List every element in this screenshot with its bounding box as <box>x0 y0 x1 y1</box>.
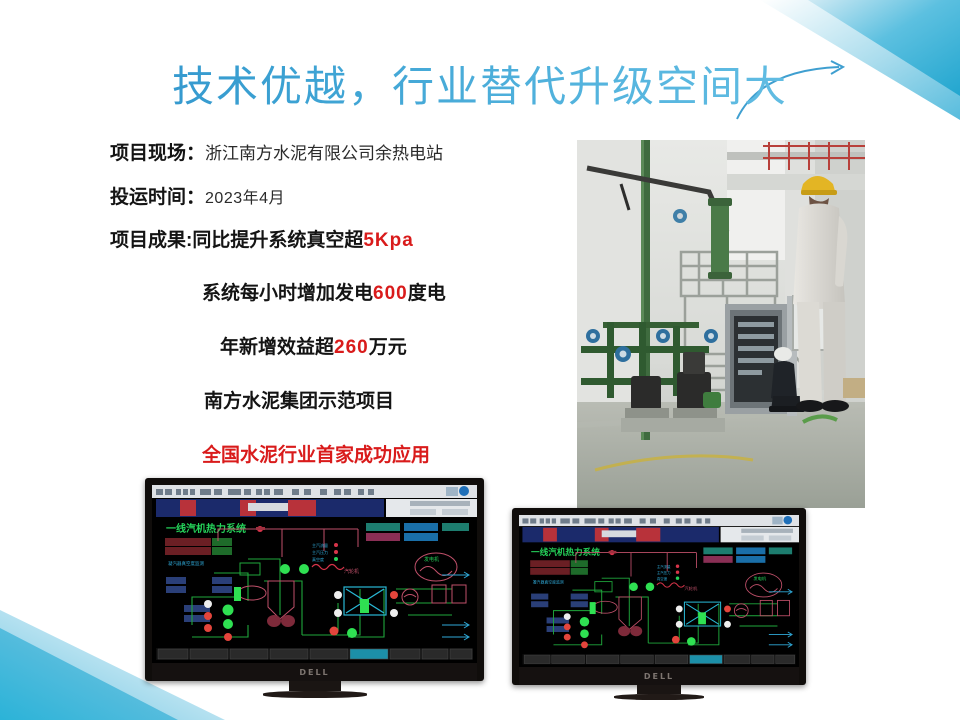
svg-text:主汽流量: 主汽流量 <box>657 564 671 569</box>
achievement-annual-benefit-text: 年新增效益超 <box>220 337 334 358</box>
monitor-left-chin: DELL <box>152 663 477 681</box>
svg-text:主汽流量: 主汽流量 <box>312 542 328 548</box>
achievement-power-output-text: 系统每小时增加发电 <box>202 283 373 304</box>
row-project-site-value: 浙江南方水泥有限公司余热电站 <box>205 144 443 163</box>
claim-first-in-industry: 全国水泥行业首家成功应用 <box>110 440 570 467</box>
svg-text:发电机: 发电机 <box>424 556 439 563</box>
monitor-right-screen: 一线汽机热力系统 凝汽器真空度监测 <box>519 515 799 667</box>
monitor-left-brand: DELL <box>299 668 329 677</box>
achievement-annual-benefit-unit: 万元 <box>369 337 407 358</box>
monitor-left: 一线汽机热力系统 <box>145 478 484 698</box>
svg-text:凝汽器真空度监测: 凝汽器真空度监测 <box>533 579 564 584</box>
monitor-left-screen: 一线汽机热力系统 <box>152 485 477 663</box>
monitor-right: 一线汽机热力系统 凝汽器真空度监测 <box>512 508 806 700</box>
svg-text:真空度: 真空度 <box>657 576 668 581</box>
monitor-left-stand-neck <box>289 681 341 691</box>
scada-diagram-left: 一线汽机热力系统 <box>152 485 477 663</box>
monitor-right-stand-base <box>614 694 704 700</box>
row-project-result-value: 同比提升系统真空超 <box>192 230 363 251</box>
monitor-left-stand-base <box>263 691 367 698</box>
achievement-power-output-value: 600 <box>373 283 408 304</box>
achievement-demo-project: 南方水泥集团示范项目 <box>110 386 570 413</box>
achievement-demo-project-text: 南方水泥集团示范项目 <box>204 391 394 412</box>
monitor-right-brand: DELL <box>644 672 674 681</box>
row-project-result-highlight: 5Kpa <box>363 230 413 251</box>
svg-text:汽轮机: 汽轮机 <box>344 568 359 575</box>
achievement-annual-benefit: 年新增效益超260万元 <box>110 332 570 359</box>
svg-text:真空度: 真空度 <box>312 556 324 562</box>
monitor-right-bezel: 一线汽机热力系统 凝汽器真空度监测 <box>512 508 806 685</box>
svg-text:凝汽器真空度监测: 凝汽器真空度监测 <box>168 560 204 567</box>
row-project-result-label: 项目成果: <box>110 230 192 251</box>
monitor-right-stand-neck <box>637 685 681 694</box>
row-commission-date: 投运时间：2023年4月 <box>110 182 570 209</box>
scada-screen-right: 一线汽机热力系统 凝汽器真空度监测 <box>519 515 799 667</box>
achievement-power-output: 系统每小时增加发电600度电 <box>110 278 570 305</box>
monitor-right-chin: DELL <box>519 667 799 685</box>
slide-canvas: 技术优越，行业替代升级空间大 项目现场：浙江南方水泥有限公司余热电站 投运时间：… <box>0 0 960 720</box>
row-commission-date-value: 2023年4月 <box>205 190 285 207</box>
content-text-block: 项目现场：浙江南方水泥有限公司余热电站 投运时间：2023年4月 项目成果:同比… <box>110 138 570 467</box>
scada-diagram-right: 一线汽机热力系统 凝汽器真空度监测 <box>519 515 799 667</box>
monitor-left-bezel: 一线汽机热力系统 <box>145 478 484 681</box>
row-project-site-label: 项目现场： <box>110 143 205 164</box>
svg-text:主汽压力: 主汽压力 <box>312 549 328 555</box>
achievement-annual-benefit-value: 260 <box>334 337 369 358</box>
plant-site-photo-illustration <box>577 140 865 508</box>
scada-screen-left: 一线汽机热力系统 <box>152 485 477 663</box>
achievement-power-output-unit: 度电 <box>408 283 446 304</box>
svg-text:主汽压力: 主汽压力 <box>657 570 671 575</box>
row-project-result: 项目成果:同比提升系统真空超5Kpa <box>110 225 570 252</box>
row-commission-date-label: 投运时间： <box>110 187 205 208</box>
slide-title: 技术优越，行业替代升级空间大 <box>0 62 960 112</box>
row-project-site: 项目现场：浙江南方水泥有限公司余热电站 <box>110 138 570 165</box>
plant-site-photo <box>577 140 865 508</box>
